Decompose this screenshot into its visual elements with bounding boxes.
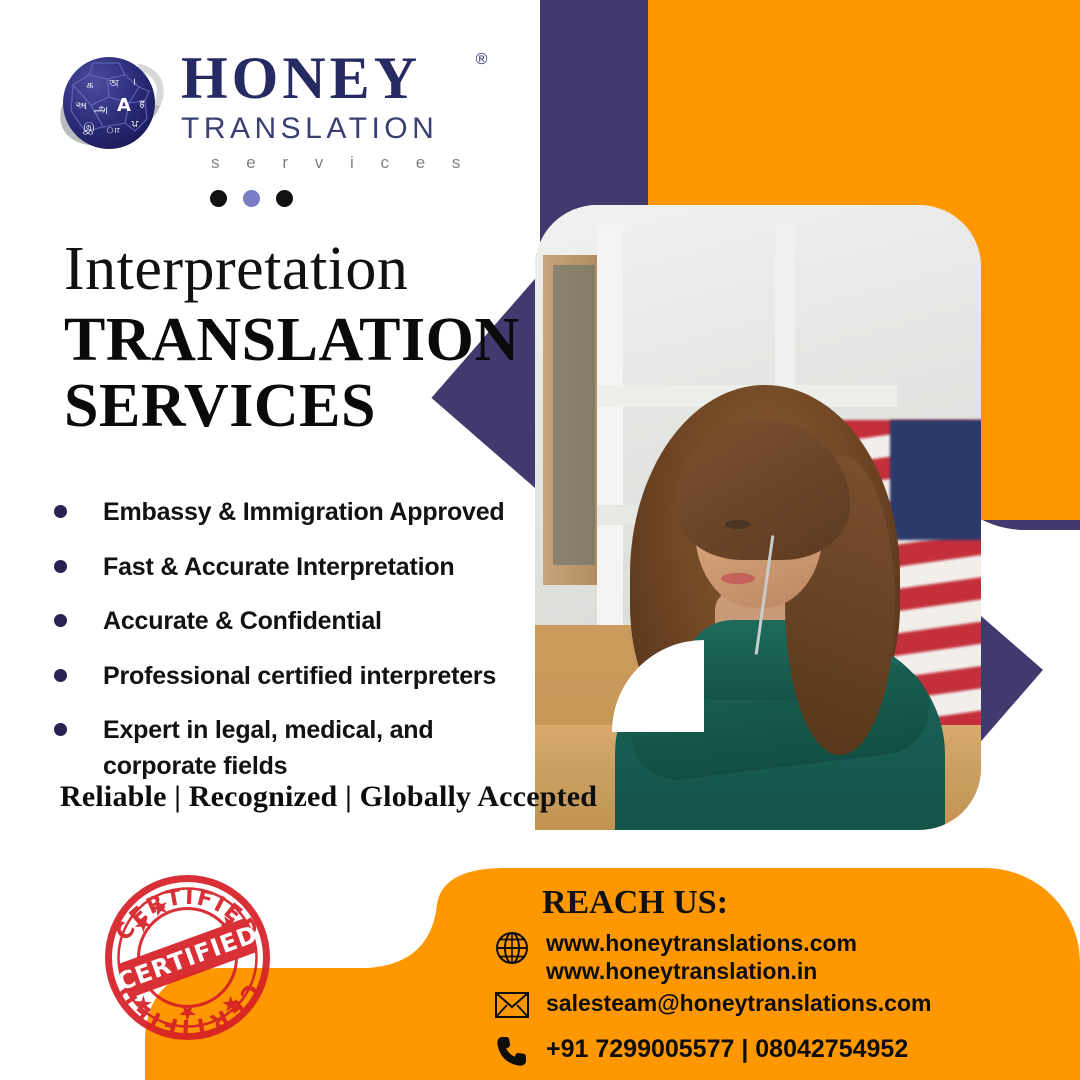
logo-name-secondary: TRANSLATION: [181, 112, 471, 146]
list-item: Embassy & Immigration Approved: [54, 495, 524, 531]
website-link-in[interactable]: www.honeytranslation.in: [546, 958, 857, 986]
poster-canvas: க অ । અ அ A ह இ ா ਪ HONEY ® TRANSLATI: [0, 0, 1080, 1080]
decorative-dots: [210, 190, 293, 207]
svg-text:இ: இ: [83, 120, 95, 135]
logo-name-tertiary: s e r v i c e s: [181, 153, 471, 173]
website-links[interactable]: www.honeytranslations.com www.honeytrans…: [546, 930, 857, 985]
feature-text: Accurate & Confidential: [103, 604, 382, 640]
svg-text:ா: ா: [106, 123, 120, 136]
list-item: Professional certified interpreters: [54, 659, 524, 695]
svg-text:અ: અ: [75, 99, 87, 112]
registered-mark: ®: [476, 51, 488, 69]
email-link[interactable]: salesteam@honeytranslations.com: [546, 990, 931, 1018]
logo-name-primary: HONEY: [181, 49, 471, 108]
feature-text: Expert in legal, medical, and corporate …: [103, 713, 463, 784]
dot-1: [210, 190, 227, 207]
svg-text:ਪ: ਪ: [131, 119, 139, 130]
hero-photo: [535, 205, 981, 830]
bullet-icon: [54, 669, 67, 682]
headline-line-1: TRANSLATION: [64, 308, 520, 374]
headline-script: Interpretation: [64, 238, 408, 300]
brand-logo: க অ । અ அ A ह இ ா ਪ HONEY ® TRANSLATI: [57, 45, 471, 173]
contact-row-phone: +91 7299005577 | 08042754952: [490, 1034, 908, 1068]
svg-text:অ: অ: [108, 77, 119, 90]
contact-row-email: salesteam@honeytranslations.com: [490, 990, 931, 1020]
phone-numbers[interactable]: +91 7299005577 | 08042754952: [546, 1034, 908, 1064]
feature-text: Embassy & Immigration Approved: [103, 495, 505, 531]
features-list: Embassy & Immigration Approved Fast & Ac…: [54, 495, 524, 803]
feature-text: Fast & Accurate Interpretation: [103, 550, 454, 586]
headline-line-2: SERVICES: [64, 374, 520, 440]
svg-text:ह: ह: [139, 99, 145, 110]
svg-text:க: க: [86, 78, 93, 91]
list-item: Accurate & Confidential: [54, 604, 524, 640]
list-item: Expert in legal, medical, and corporate …: [54, 713, 524, 784]
envelope-icon: [490, 990, 534, 1020]
bullet-icon: [54, 505, 67, 518]
dot-2: [243, 190, 260, 207]
certified-stamp: CERTIFIED CERTIFIED CERTIFIED: [100, 870, 275, 1045]
globe-icon: [490, 930, 534, 966]
dot-3: [276, 190, 293, 207]
contact-heading: REACH US:: [470, 884, 800, 922]
bullet-icon: [54, 560, 67, 573]
svg-text:அ: அ: [94, 102, 108, 117]
tagline: Reliable | Recognized | Globally Accepte…: [60, 780, 597, 814]
svg-text:A: A: [117, 95, 131, 116]
feature-text: Professional certified interpreters: [103, 659, 496, 695]
headline-main: TRANSLATION SERVICES: [64, 308, 520, 439]
globe-languages-icon: க অ । અ அ A ह இ ா ਪ: [57, 45, 167, 163]
bullet-icon: [54, 723, 67, 736]
website-link-com[interactable]: www.honeytranslations.com: [546, 930, 857, 958]
list-item: Fast & Accurate Interpretation: [54, 550, 524, 586]
svg-text:।: ।: [132, 77, 136, 88]
contact-row-website: www.honeytranslations.com www.honeytrans…: [490, 930, 857, 985]
contact-panel: REACH US: www.honeytranslations.com www.…: [145, 868, 1080, 1080]
phone-icon: [490, 1034, 534, 1068]
bullet-icon: [54, 614, 67, 627]
